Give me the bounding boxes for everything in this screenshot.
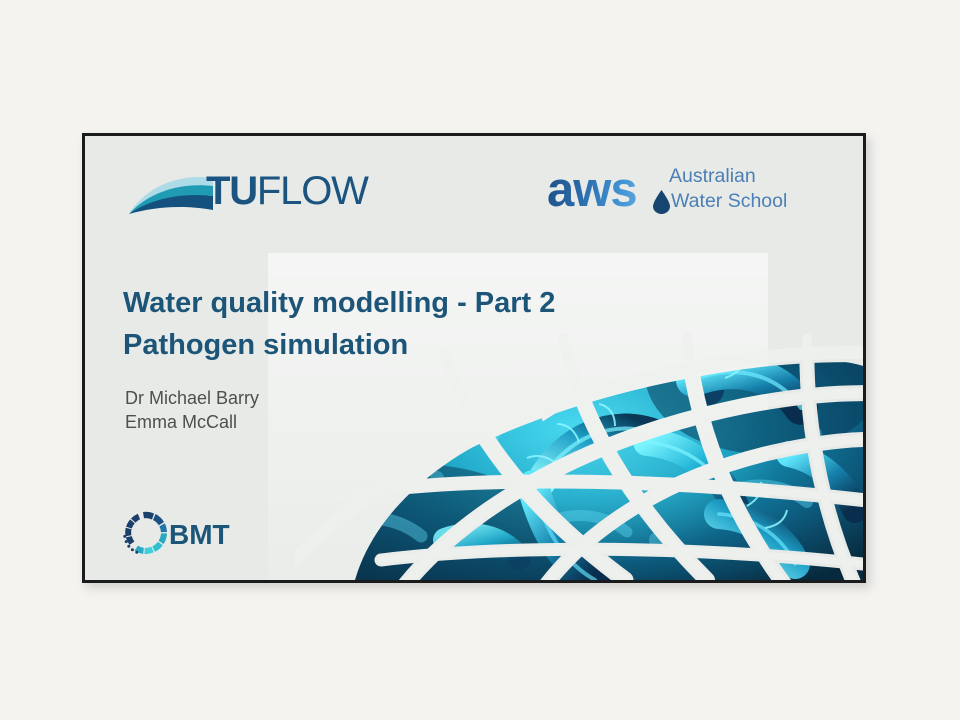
title-line-1: Water quality modelling - Part 2	[123, 282, 703, 324]
wave-swoosh-icon	[125, 172, 217, 216]
australian-water-school-logo: aws Australian Water School	[547, 158, 837, 222]
bmt-spiral-icon	[123, 510, 169, 556]
tuflow-wordmark-flow: FLOW	[257, 169, 368, 213]
aws-subtitle: Australian Water School	[669, 164, 787, 214]
title-line-2: Pathogen simulation	[123, 324, 703, 366]
water-droplet-icon	[653, 190, 670, 214]
tuflow-logo: TUFLOW	[125, 164, 415, 222]
page-title: Water quality modelling - Part 2 Pathoge…	[123, 282, 703, 366]
tuflow-wordmark: TUFLOW	[206, 166, 368, 216]
bmt-logo: BMT	[123, 510, 253, 558]
bmt-wordmark: BMT	[169, 520, 230, 550]
presentation-slide: TUFLOW aws Australian Water School Water…	[82, 133, 866, 583]
presenter-list: Dr Michael Barry Emma McCall	[125, 386, 259, 434]
aws-subtitle-line2: Water School	[669, 189, 787, 214]
presenter-name-1: Dr Michael Barry	[125, 386, 259, 410]
aws-subtitle-line1: Australian	[669, 164, 787, 189]
presenter-name-2: Emma McCall	[125, 410, 259, 434]
tuflow-wordmark-tu: TU	[206, 169, 257, 213]
aws-wordmark: aws	[547, 162, 637, 218]
